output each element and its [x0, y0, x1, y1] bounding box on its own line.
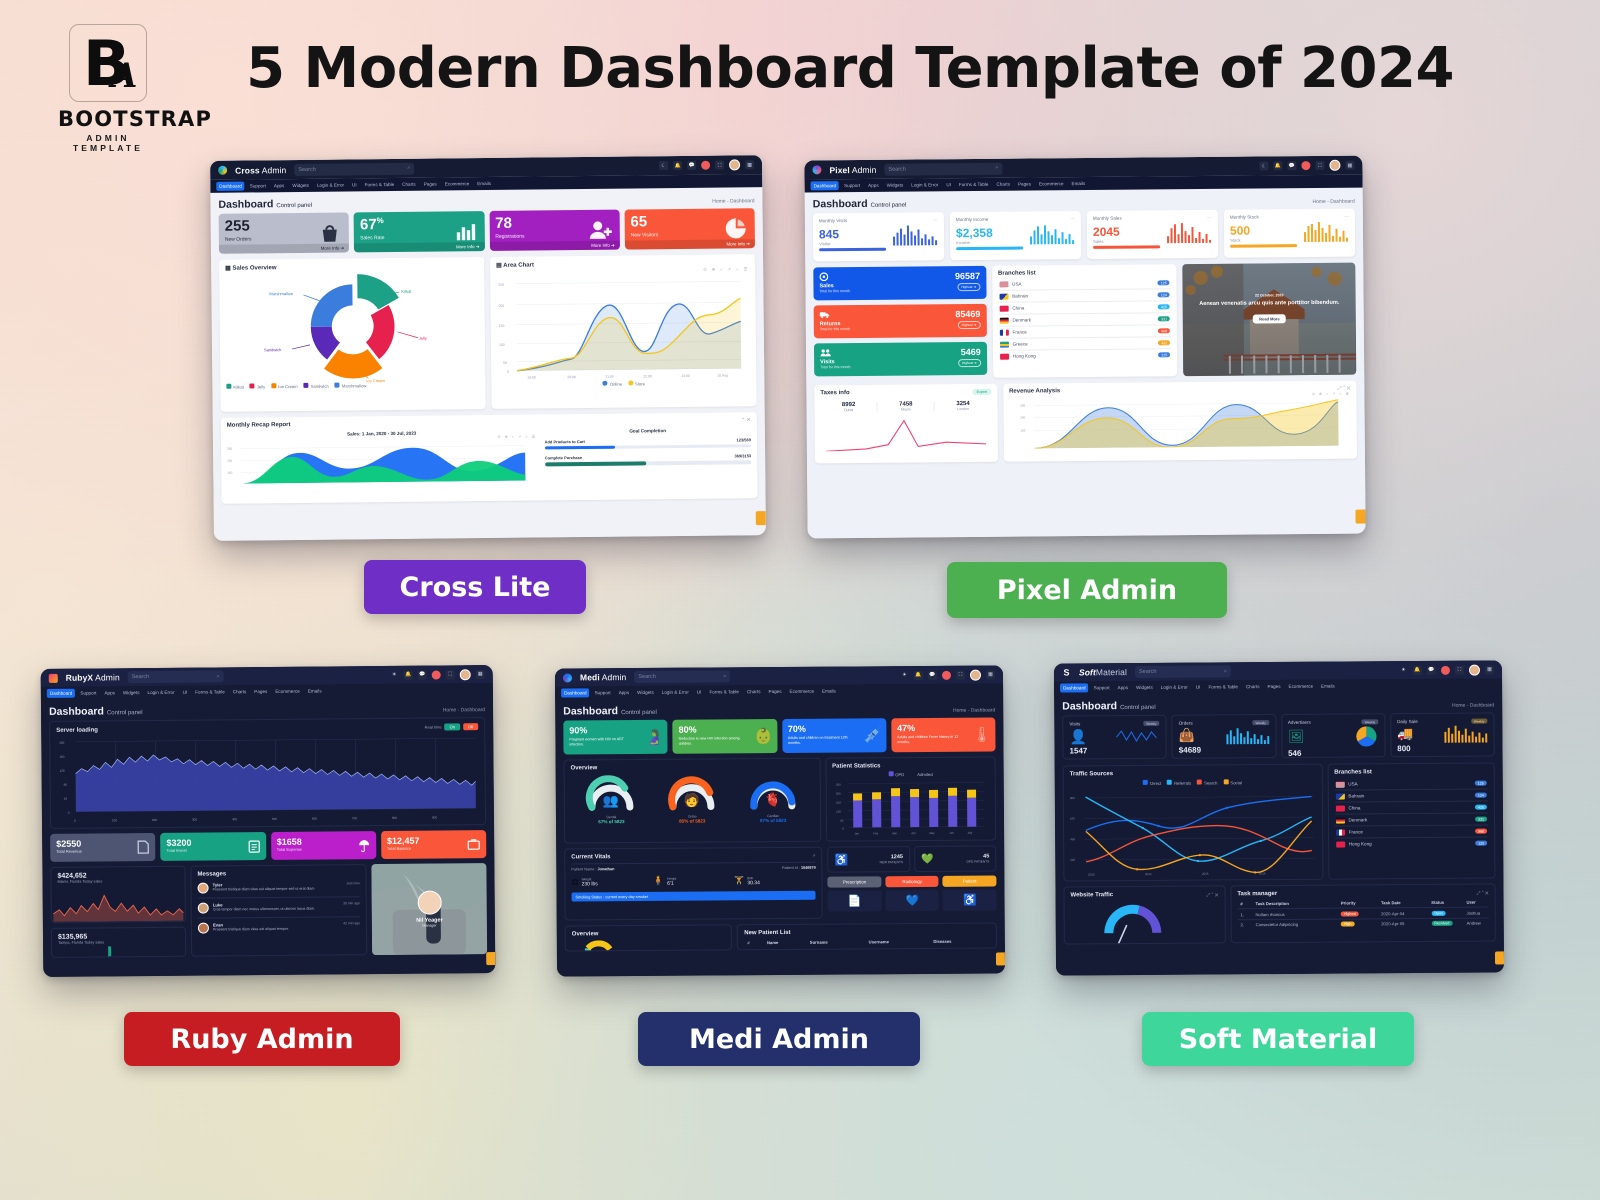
- area-chart-svg: 250200150 100500 19:0020:0021:00 22:0: [496, 271, 745, 382]
- label-medi-admin[interactable]: Medi Admin: [638, 1012, 920, 1066]
- tile-returns[interactable]: 85469 Returns Total for this month Highe…: [814, 304, 987, 339]
- nav-forms-table[interactable]: Forms & Table: [192, 687, 228, 696]
- settings-tab-button[interactable]: [996, 952, 1005, 965]
- stat-monthly-stock[interactable]: Monthly Stock⋯ 500 Stock: [1224, 209, 1355, 258]
- svg-text:Feb: Feb: [873, 831, 878, 835]
- cross-search-input[interactable]: Search ⌕: [294, 162, 414, 175]
- search-icon[interactable]: ⌕: [407, 165, 410, 172]
- avatar[interactable]: [729, 159, 740, 170]
- branch-row-denmark[interactable]: Denmark331: [1335, 814, 1489, 827]
- nav-forms-table[interactable]: Forms & Table: [362, 180, 398, 189]
- medi-search-input[interactable]: Search⌕: [634, 670, 730, 683]
- nav-charts[interactable]: Charts: [1243, 682, 1263, 691]
- svg-text:2016: 2016: [1259, 871, 1266, 875]
- branch-row-usa[interactable]: USA125: [1334, 778, 1488, 791]
- flag-icon[interactable]: [432, 670, 441, 679]
- svg-text:700: 700: [352, 816, 357, 820]
- sales-card-tampa: $135,965 Tampa, Florida Today sales: [51, 927, 186, 958]
- avatar[interactable]: [460, 669, 471, 680]
- user-circle-icon: 👤: [1069, 728, 1087, 745]
- svg-text:150: 150: [1020, 429, 1025, 433]
- clipboard-icon: [248, 839, 260, 853]
- nav-ui[interactable]: UI: [180, 688, 191, 697]
- nav-dashboard[interactable]: Dashboard: [561, 688, 590, 697]
- flag-hongkong-icon: [1000, 353, 1009, 359]
- nav-apps[interactable]: Apps: [616, 688, 633, 697]
- website-traffic-title: Website Traffic: [1071, 892, 1114, 898]
- pixel-promo-card[interactable]: 22 October, 2023 Aenean venenatis arcu q…: [1183, 263, 1357, 377]
- medi-overview2-panel: Overview: [565, 924, 733, 951]
- sun-icon[interactable]: ☀: [390, 670, 399, 679]
- stat-monthly-income[interactable]: Monthly Income⋯ $2,358 Income: [950, 211, 1081, 260]
- nav-widgets[interactable]: Widgets: [120, 688, 143, 697]
- breadcrumb[interactable]: Home - Dashboard: [1452, 702, 1494, 708]
- nav-widgets[interactable]: Widgets: [884, 181, 907, 190]
- settings-tab-button[interactable]: [1355, 510, 1365, 524]
- search-icon[interactable]: ⌕: [813, 853, 816, 859]
- search-icon[interactable]: ⌕: [723, 673, 726, 680]
- flag-icon[interactable]: [1441, 665, 1450, 674]
- nav-pages[interactable]: Pages: [251, 687, 270, 696]
- svg-text:July: July: [967, 831, 973, 835]
- grid-menu-icon[interactable]: ▦: [476, 670, 485, 679]
- file-icon: [137, 840, 149, 854]
- medi-stat-row: 90% Pregnant women with HIV on ART infec…: [555, 717, 1003, 754]
- action-radiology[interactable]: Radiology 💙: [885, 876, 939, 911]
- users-icon: [820, 347, 981, 357]
- nav-forms-table[interactable]: Forms & Table: [1205, 682, 1241, 691]
- svg-text:800: 800: [392, 816, 397, 820]
- settings-tab-button[interactable]: [486, 952, 495, 965]
- stat-total-expense[interactable]: $1658 Total Expense: [271, 831, 376, 860]
- svg-text:2013: 2013: [1088, 872, 1095, 876]
- more-info-link[interactable]: More Info ➜: [219, 243, 349, 253]
- message-item[interactable]: TylerJust now Praesent tristique diam vi…: [198, 876, 360, 898]
- svg-text:600: 600: [312, 817, 317, 821]
- add-user-icon: [587, 218, 613, 242]
- screenshot-medi-admin[interactable]: Medi Admin Search⌕ ☀ 🔔 💬 ⛶ ▦ Dashboard S…: [555, 665, 1005, 976]
- svg-text:Sandwich: Sandwich: [263, 347, 280, 352]
- nav-pages[interactable]: Pages: [1015, 179, 1034, 188]
- bell-icon[interactable]: 🔔: [1273, 161, 1282, 170]
- chat-icon[interactable]: 💬: [1427, 665, 1436, 674]
- more-info-link[interactable]: More Info ➜: [489, 241, 619, 251]
- taxes-title: Taxes info: [820, 390, 849, 396]
- image-icon: 🖼: [1288, 729, 1305, 745]
- nav-support[interactable]: Support: [592, 688, 614, 697]
- nav-apps[interactable]: Apps: [271, 181, 288, 190]
- new-patient-list-panel: New Patient List # Name Surname Username…: [737, 922, 997, 950]
- branch-row-china[interactable]: China425: [1334, 802, 1488, 815]
- read-more-button[interactable]: Read More: [1253, 314, 1286, 323]
- nav-emails[interactable]: Emails: [305, 687, 325, 696]
- svg-text:150: 150: [836, 801, 841, 805]
- fullscreen-icon[interactable]: ⛶: [715, 161, 724, 170]
- flag-usa-icon: [999, 281, 1008, 287]
- page-title: DashboardControl panel: [813, 198, 907, 211]
- export-button[interactable]: Export: [973, 389, 991, 395]
- counter-opd-patients: 💚 45OPD PATIENTS: [914, 845, 996, 872]
- search-icon[interactable]: ⌕: [995, 165, 998, 172]
- nav-apps[interactable]: Apps: [101, 688, 118, 697]
- fullscreen-icon[interactable]: ⛶: [446, 670, 455, 679]
- overview-title: Overview: [571, 764, 814, 772]
- fullscreen-icon[interactable]: ⛶: [1455, 665, 1464, 674]
- nav-charts[interactable]: Charts: [744, 687, 764, 696]
- nav-login-error[interactable]: Login & Error: [908, 180, 941, 189]
- realtime-on-button[interactable]: On: [445, 723, 460, 730]
- nav-ecommerce[interactable]: Ecommerce: [442, 179, 473, 188]
- search-icon[interactable]: ⌕: [217, 673, 220, 680]
- pixel-topbar-icons: ☾ 🔔 💬 ⛶ ▦: [1259, 160, 1354, 172]
- label-soft-material[interactable]: Soft Material: [1142, 1012, 1414, 1066]
- soft-topbar-icons: ☀ 🔔 💬 ⛶ ▦: [1399, 664, 1494, 676]
- fullscreen-icon[interactable]: ⛶: [956, 670, 965, 679]
- svg-text:200: 200: [59, 741, 64, 745]
- sun-icon[interactable]: ☀: [900, 671, 909, 680]
- goal-value: 369/3153: [734, 454, 751, 459]
- svg-text:23:00: 23:00: [681, 374, 690, 378]
- svg-text:160: 160: [59, 755, 64, 759]
- screenshot-ruby-admin[interactable]: RubyX Admin Search⌕ ☀ 🔔 💬 ⛶ ▦ Dashboard …: [41, 665, 496, 977]
- pixel-tiles: 96587 Sales Total for this month Highest…: [813, 266, 987, 380]
- svg-text:900: 900: [432, 816, 437, 820]
- nav-emails[interactable]: Emails: [1318, 682, 1338, 691]
- heartbeat-icon: 💙: [885, 890, 939, 911]
- grid-menu-icon[interactable]: ▦: [1345, 161, 1354, 170]
- avatar[interactable]: [1469, 664, 1480, 675]
- nav-dashboard[interactable]: Dashboard: [811, 181, 840, 190]
- stat-treatment[interactable]: 70% Adults and children on treatment 12t…: [782, 718, 886, 753]
- revenue-title: Revenue Analysis: [1009, 388, 1060, 394]
- wheelchair-icon: ♿: [943, 889, 997, 910]
- svg-text:22:00: 22:00: [643, 374, 652, 378]
- nav-support[interactable]: Support: [841, 181, 863, 190]
- stat-fever-history[interactable]: 47% Adults and children Fever history in…: [891, 717, 995, 752]
- nav-emails[interactable]: Emails: [819, 687, 839, 696]
- svg-text:225: 225: [1070, 858, 1075, 862]
- panel-controls[interactable]: ⤢ ⌃ ✕: [1206, 892, 1218, 897]
- cross-logo-icon: [218, 166, 227, 175]
- nav-apps[interactable]: Apps: [1115, 683, 1132, 692]
- brand-name: BOOTSTRAP: [58, 107, 158, 131]
- stat-card-new-orders[interactable]: 255 New Orders More Info ➜: [219, 212, 350, 253]
- stat-total-revenue[interactable]: $2550 Total Revenue: [50, 833, 155, 862]
- svg-text:Mar: Mar: [892, 831, 897, 835]
- svg-text:0: 0: [74, 819, 76, 823]
- visits-line-sparkline: [1116, 727, 1160, 745]
- stat-monthly-sales[interactable]: Monthly Sales⋯ 2045 Sales: [1087, 210, 1218, 259]
- svg-text:200: 200: [152, 818, 157, 822]
- soft-stat-daily-sale[interactable]: Daily Sale Weekly 🚚 800: [1390, 712, 1495, 757]
- tile-sales[interactable]: 96587 Sales Total for this month Highest…: [813, 266, 986, 301]
- weekly-badge[interactable]: Weekly: [1362, 719, 1378, 724]
- bell-icon[interactable]: 🔔: [404, 670, 413, 679]
- nav-dashboard[interactable]: Dashboard: [47, 689, 76, 698]
- grid-menu-icon[interactable]: ▦: [986, 670, 995, 679]
- gauge-ortho: 🧑 Ortho 85% of 5823: [666, 774, 718, 823]
- nav-support[interactable]: Support: [1091, 683, 1113, 692]
- pixel-logo-icon: [812, 165, 821, 174]
- sun-icon[interactable]: ☀: [1399, 666, 1408, 675]
- svg-text:19:00: 19:00: [527, 376, 536, 380]
- search-icon[interactable]: ⌕: [1224, 668, 1227, 675]
- ruby-search-input[interactable]: Search⌕: [128, 670, 224, 683]
- svg-text:675: 675: [1070, 817, 1075, 821]
- tile-visits[interactable]: 5469 Visits Total for this month Highest…: [814, 342, 987, 377]
- col-name: Name: [764, 938, 807, 948]
- avatar: [198, 883, 209, 894]
- flag-denmark-icon: [999, 317, 1008, 323]
- nav-login-error[interactable]: Login & Error: [314, 180, 347, 189]
- recap-title: Monthly Recap Report: [227, 422, 291, 429]
- nav-forms-table[interactable]: Forms & Table: [956, 180, 992, 189]
- grid-menu-icon[interactable]: ▦: [745, 160, 754, 169]
- flag-france-icon: [1336, 829, 1345, 835]
- svg-text:250: 250: [498, 283, 504, 287]
- nav-login-error[interactable]: Login & Error: [145, 688, 178, 697]
- more-info-link[interactable]: More Info ➜: [625, 239, 755, 249]
- tax-item-dubai: 8992 Dubai: [820, 402, 877, 412]
- avatar[interactable]: [970, 669, 981, 680]
- nav-support[interactable]: Support: [247, 181, 269, 190]
- nav-ui[interactable]: UI: [1193, 683, 1204, 692]
- branches-title: Branches list: [998, 269, 1171, 277]
- nav-ui[interactable]: UI: [943, 180, 954, 189]
- svg-text:250: 250: [227, 447, 232, 451]
- svg-text:500: 500: [272, 817, 277, 821]
- nav-charts[interactable]: Charts: [993, 180, 1013, 189]
- svg-text:200: 200: [1020, 416, 1025, 420]
- realtime-label: Real time: [425, 724, 442, 729]
- branch-row-bahrain[interactable]: Bahrain124: [1334, 790, 1488, 803]
- overview2-donut: [580, 940, 624, 951]
- svg-text:🫀: 🫀: [765, 792, 781, 807]
- injection-icon: 💉: [863, 726, 882, 744]
- tax-item-london: 3254 London: [935, 401, 991, 411]
- chat-icon[interactable]: 💬: [928, 670, 937, 679]
- pixel-app-name: Pixel Admin: [829, 164, 876, 174]
- nav-charts[interactable]: Charts: [230, 687, 250, 696]
- nav-widgets[interactable]: Widgets: [634, 688, 657, 697]
- flag-icon[interactable]: [942, 670, 951, 679]
- breadcrumb[interactable]: Home - Dashboard: [712, 198, 754, 204]
- svg-text:450: 450: [1070, 837, 1075, 841]
- bell-icon[interactable]: 🔔: [1413, 665, 1422, 674]
- vital-height: 🧍 Height6'1: [653, 875, 735, 887]
- revenue-area-chart: 250200150: [1009, 396, 1351, 449]
- stat-card-registrations[interactable]: 78 Registrations More Info ➜: [489, 210, 620, 251]
- stat-card-new-visitors[interactable]: 65 New Visitors More Info ➜: [624, 208, 755, 249]
- server-loading-title: Server loading: [56, 727, 98, 733]
- ruby-app-name: RubyX Admin: [66, 672, 120, 682]
- svg-text:May: May: [929, 831, 935, 835]
- avatar: [417, 890, 441, 914]
- nav-ui[interactable]: UI: [694, 688, 705, 697]
- chat-icon[interactable]: 💬: [1287, 161, 1296, 170]
- current-vitals-panel: Current Vitals ⌕ Patient Name : Jonathan…: [564, 847, 823, 921]
- highest-pill[interactable]: Highest ➜: [957, 283, 980, 291]
- orders-bar-sparkline: [1225, 726, 1269, 744]
- flag-bahrain-icon: [999, 293, 1008, 299]
- flag-greece-icon: [1000, 341, 1009, 347]
- patient-statistics-title: Patient Statistics: [832, 763, 989, 770]
- rubyx-logo-icon: [49, 673, 58, 682]
- flag-icon[interactable]: [1301, 161, 1310, 170]
- medi-topbar-icons: ☀ 🔔 💬 ⛶ ▦: [900, 669, 995, 681]
- area-chart-legend: Online Store: [497, 379, 750, 388]
- patient-statistics-chart: 250200150100500: [832, 777, 989, 838]
- svg-text:2015: 2015: [1202, 872, 1209, 876]
- svg-text:300: 300: [192, 818, 197, 822]
- nav-pages[interactable]: Pages: [1264, 682, 1283, 691]
- nav-charts[interactable]: Charts: [399, 180, 419, 189]
- soft-stat-visits[interactable]: Visits Weekly 👤 1547: [1062, 715, 1167, 760]
- label-cross-lite[interactable]: Cross Lite: [364, 560, 586, 614]
- stat-hiv-reduction[interactable]: 80% Reduction in new HIV infection among…: [673, 719, 777, 754]
- flag-icon[interactable]: [701, 161, 710, 170]
- stat-total-invest[interactable]: $3200 Total Invest: [160, 832, 265, 861]
- grid-menu-icon[interactable]: ▦: [1485, 665, 1494, 674]
- breadcrumb[interactable]: Home - Dashboard: [443, 707, 485, 713]
- svg-text:Apr: Apr: [911, 831, 915, 835]
- status-badge: Resolved: [1431, 921, 1452, 926]
- page-title: DashboardControl panel: [563, 705, 657, 718]
- stat-monthly-visits[interactable]: Monthly Visits⋯ 845 Visitor: [813, 212, 944, 261]
- stat-hiv-art[interactable]: 90% Pregnant women with HIV on ART infec…: [563, 720, 667, 755]
- action-patient[interactable]: Patient ♿: [943, 875, 997, 910]
- more-info-link[interactable]: More Info ➜: [354, 242, 484, 252]
- nav-dashboard[interactable]: Dashboard: [1060, 683, 1089, 692]
- nav-login-error[interactable]: Login & Error: [659, 688, 692, 697]
- label-pixel-admin[interactable]: Pixel Admin: [947, 562, 1227, 618]
- soft-stat-advertisers[interactable]: Advertisers Weekly 🖼 546: [1281, 713, 1386, 758]
- nav-emails[interactable]: Emails: [474, 179, 494, 188]
- nav-widgets[interactable]: Widgets: [289, 181, 312, 190]
- overview2-title: Overview: [572, 930, 726, 937]
- label-ruby-admin[interactable]: Ruby Admin: [124, 1012, 400, 1066]
- profile-role: Manager: [422, 924, 436, 928]
- nav-ecommerce[interactable]: Ecommerce: [1285, 682, 1316, 691]
- stat-card-sales-rate[interactable]: 67% Sales Rate More Info ➜: [354, 211, 485, 252]
- recap-area-chart: 250200150: [227, 439, 527, 484]
- pixel-search-input[interactable]: Search⌕: [884, 162, 1002, 175]
- bell-icon[interactable]: 🔔: [914, 670, 923, 679]
- panel-controls[interactable]: ⤢ ⌃ ✕: [1477, 890, 1489, 895]
- nav-ecommerce[interactable]: Ecommerce: [787, 687, 818, 696]
- nav-widgets[interactable]: Widgets: [1133, 683, 1156, 692]
- highest-pill[interactable]: Highest ➜: [958, 359, 981, 367]
- priority-badge: High: [1341, 922, 1354, 927]
- screenshot-soft-material[interactable]: S SoftMaterial Search⌕ ☀ 🔔 💬 ⛶ ▦ Dashboa…: [1054, 660, 1504, 975]
- screenshot-pixel-admin[interactable]: Pixel Admin Search⌕ ☾ 🔔 💬 ⛶ ▦ Dashboard …: [804, 156, 1365, 539]
- nav-pages[interactable]: Pages: [421, 179, 440, 188]
- realtime-off-button[interactable]: Off: [463, 723, 478, 730]
- promo-text: Aenean venenatis arcu quis ante porttito…: [1183, 300, 1356, 308]
- avatar: [198, 923, 209, 934]
- nav-dashboard[interactable]: Dashboard: [216, 182, 245, 191]
- new-patient-table: # Name Surname Username Diseases: [744, 937, 990, 948]
- breadcrumb[interactable]: Home - Dashboard: [953, 707, 995, 713]
- flag-usa-icon: [1335, 781, 1344, 787]
- document-icon: 📄: [828, 890, 882, 911]
- table-row[interactable]: 2. Consectetur Adipiscing High 2020-Apr-…: [1237, 918, 1488, 930]
- screenshot-cross-lite[interactable]: Cross Admin Search ⌕ ☾ 🔔 💬 ⛶ ▦ Dashboard…: [210, 155, 766, 541]
- flag-china-icon: [999, 305, 1008, 311]
- medi-logo-icon: [563, 673, 572, 682]
- soft-search-input[interactable]: Search⌕: [1135, 665, 1231, 678]
- svg-text:50: 50: [503, 361, 507, 365]
- sales-overview-donut: Kitkat Jelly Ice Cream Sandwich Marshmal…: [257, 269, 448, 383]
- goal-progress-bar: [545, 461, 751, 467]
- pregnant-icon: 🤰: [645, 728, 664, 746]
- goal-progress-bar: [545, 444, 751, 450]
- settings-tab-button[interactable]: [1495, 951, 1504, 964]
- moon-icon[interactable]: ☾: [1259, 161, 1268, 170]
- website-traffic-panel: Website Traffic ⤢ ⌃ ✕: [1063, 885, 1225, 944]
- nav-login-error[interactable]: Login & Error: [1158, 683, 1191, 692]
- moon-icon[interactable]: ☾: [659, 161, 668, 170]
- nav-ui[interactable]: UI: [349, 180, 360, 189]
- vital-bmi: 🏋 BMI30.34: [734, 875, 816, 887]
- nav-apps[interactable]: Apps: [865, 181, 882, 190]
- heartbeat-icon: 💚: [921, 853, 934, 864]
- stat-total-balance[interactable]: $12,457 Total Balance: [381, 830, 486, 859]
- avatar[interactable]: [1329, 160, 1340, 171]
- nav-emails[interactable]: Emails: [1068, 179, 1088, 188]
- chat-icon[interactable]: 💬: [418, 670, 427, 679]
- svg-text:200: 200: [836, 792, 841, 796]
- cross-topbar-icons: ☾ 🔔 💬 ⛶ ▦: [659, 159, 754, 171]
- message-item[interactable]: Luke30 min ago Cras tempor diam nec metu…: [198, 897, 360, 918]
- goal-completion-title: Goal Completion: [544, 427, 750, 434]
- nav-ecommerce[interactable]: Ecommerce: [272, 687, 303, 696]
- nav-ecommerce[interactable]: Ecommerce: [1036, 179, 1067, 188]
- message-item[interactable]: Evan42 min ago Praesent tristique diam v…: [198, 917, 360, 933]
- weekly-badge[interactable]: Weekly: [1252, 720, 1268, 725]
- nav-pages[interactable]: Pages: [765, 687, 784, 696]
- branch-row-hongkong[interactable]: Hong Kong125: [999, 349, 1172, 362]
- weekly-badge[interactable]: Weekly: [1143, 721, 1159, 726]
- settings-tab-button[interactable]: [756, 511, 766, 525]
- chat-icon[interactable]: 💬: [687, 161, 696, 170]
- highest-pill[interactable]: Highest ➜: [958, 321, 981, 329]
- status-badge: Open: [1431, 911, 1446, 916]
- svg-text:10 Aug: 10 Aug: [717, 373, 728, 377]
- profile-card[interactable]: Nil Yeager Manager: [372, 863, 488, 955]
- progress-bar: [819, 248, 886, 251]
- breadcrumb[interactable]: Home - Dashboard: [1312, 199, 1354, 205]
- advertisers-pie: [1354, 725, 1378, 747]
- bag-icon: 👜: [1179, 728, 1195, 744]
- bell-icon[interactable]: 🔔: [673, 161, 682, 170]
- action-prescription[interactable]: Prescription 📄: [828, 876, 882, 911]
- branch-row-france[interactable]: France968: [1335, 826, 1489, 839]
- soft-stat-orders[interactable]: Orders Weekly 👜 $4689: [1172, 714, 1277, 759]
- promo-date: 22 October, 2023: [1183, 293, 1356, 299]
- fullscreen-icon[interactable]: ⛶: [1315, 161, 1324, 170]
- svg-text:50: 50: [840, 819, 844, 823]
- col-diseases: Diseases: [930, 937, 990, 947]
- page-title: DashboardControl panel: [218, 198, 312, 211]
- branch-row-hongkong[interactable]: Hong Kong125: [1335, 838, 1489, 850]
- nav-support[interactable]: Support: [77, 688, 99, 697]
- taxes-spark-chart: [821, 414, 992, 451]
- panel-controls[interactable]: ⌃ ✕: [741, 417, 751, 423]
- nav-forms-table[interactable]: Forms & Table: [706, 687, 742, 696]
- weekly-badge[interactable]: Weekly: [1471, 719, 1487, 724]
- soft-logo-icon: S: [1062, 668, 1071, 677]
